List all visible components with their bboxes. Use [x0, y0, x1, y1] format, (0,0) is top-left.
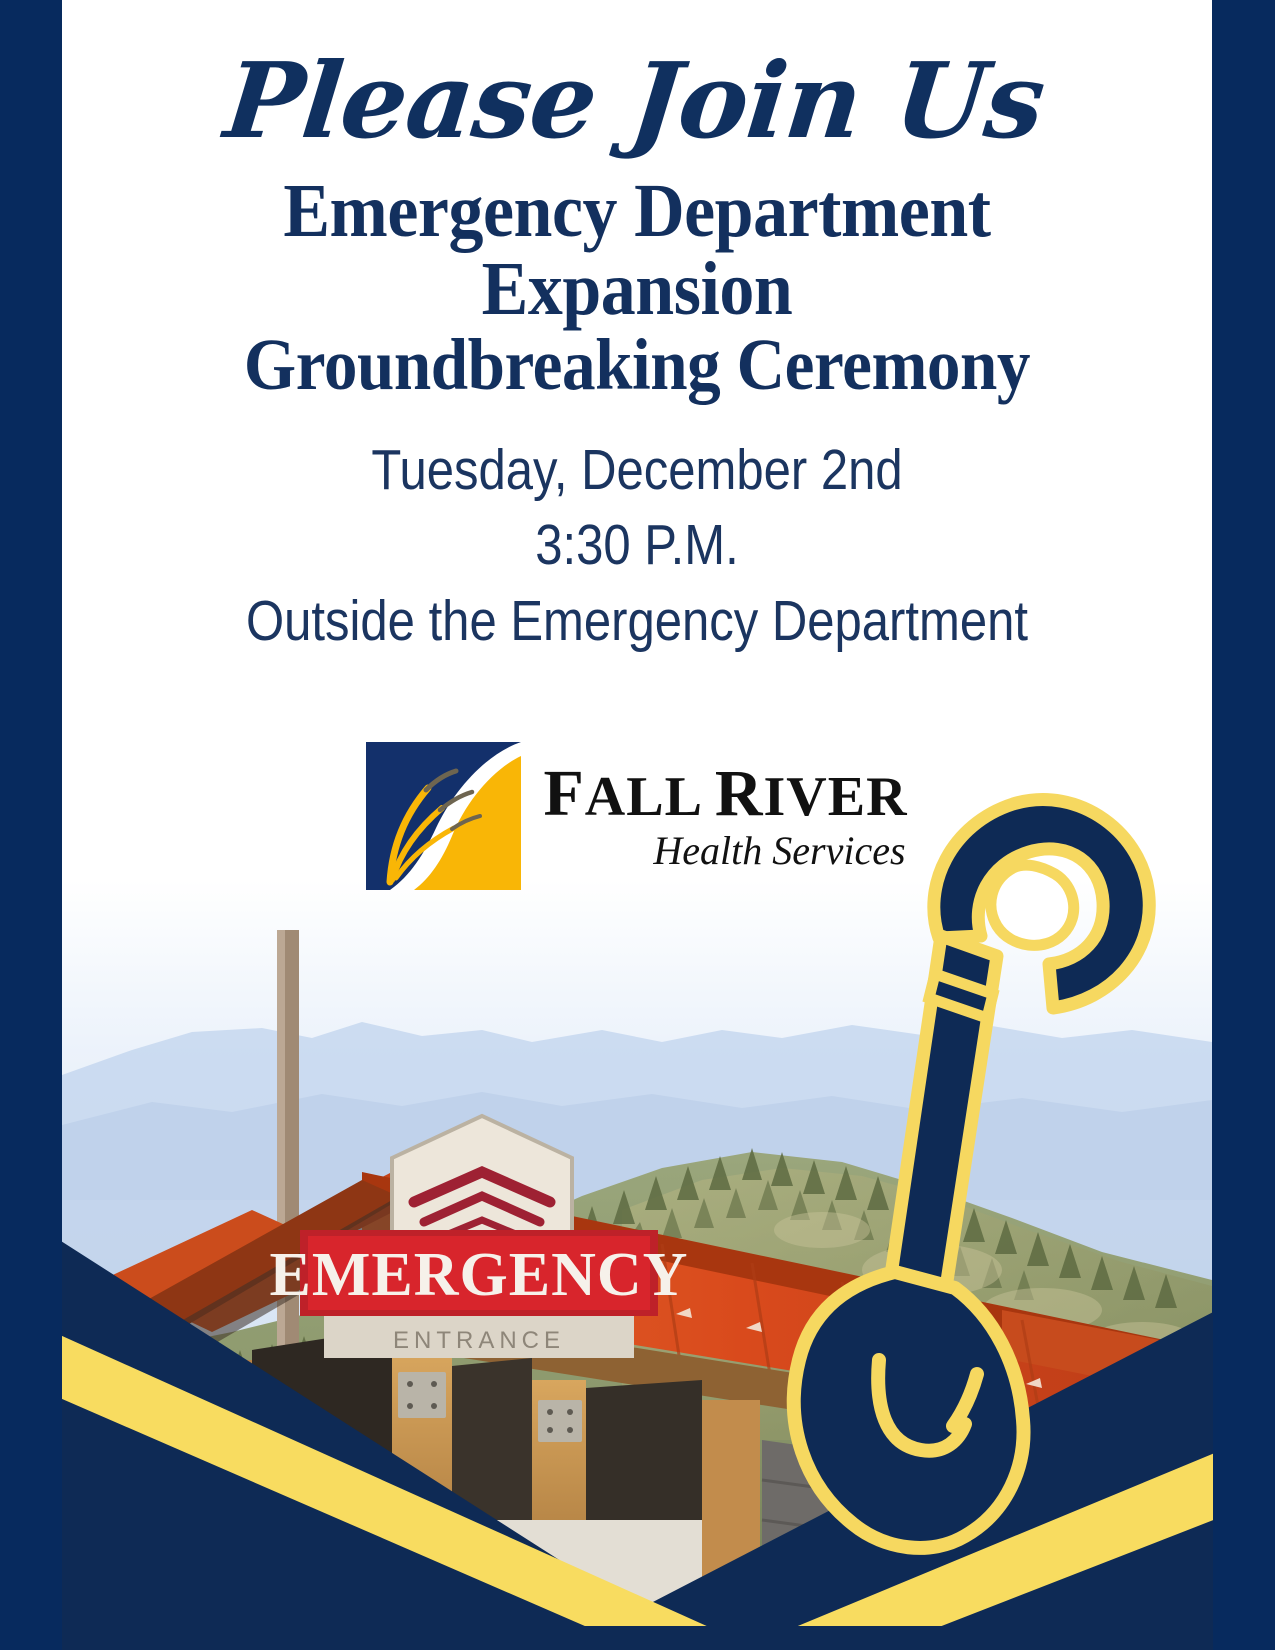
script-title: Please Join Us — [62, 0, 1212, 155]
groundbreaking-shovel-icon — [745, 760, 1165, 1560]
event-time: 3:30 P.M. — [143, 508, 1132, 584]
title-line-2: Expansion — [108, 251, 1166, 329]
fall-river-swoosh-icon — [366, 742, 521, 890]
title-line-1: Emergency Department — [108, 173, 1166, 251]
brand-name-all: ALL — [585, 766, 715, 828]
flyer-canvas: Please Join Us Emergency Department Expa… — [0, 0, 1275, 1650]
header-text-block: Please Join Us Emergency Department Expa… — [62, 0, 1212, 660]
brand-name-f: F — [543, 757, 584, 830]
event-details: Tuesday, December 2nd 3:30 P.M. Outside … — [143, 403, 1132, 660]
entrance-sign-text: ENTRANCE — [393, 1327, 565, 1354]
event-date: Tuesday, December 2nd — [143, 433, 1132, 509]
event-location: Outside the Emergency Department — [143, 584, 1132, 660]
emergency-sign-text: EMERGENCY — [270, 1241, 689, 1309]
right-border — [1213, 0, 1275, 1650]
page-title: Emergency Department Expansion Groundbre… — [108, 155, 1166, 402]
left-border — [0, 0, 62, 1650]
title-line-3: Groundbreaking Ceremony — [108, 328, 1166, 402]
